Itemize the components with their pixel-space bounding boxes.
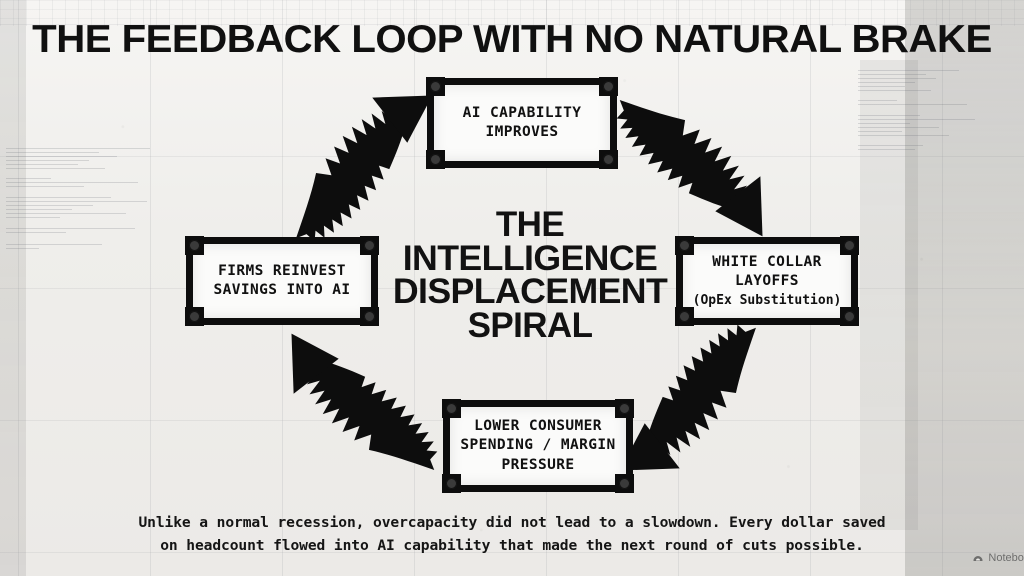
watermark: Noteboo: [972, 552, 1024, 564]
center-label-line-2: INTELLIGENCE: [377, 242, 683, 276]
node-ai-capability-improves: AI CAPABILITY IMPROVES: [427, 78, 617, 168]
watermark-label: Noteboo: [988, 552, 1024, 564]
node-line-1: AI CAPABILITY: [463, 105, 582, 121]
bolt-icon: [185, 236, 204, 255]
node-label: FIRMS REINVEST SAVINGS INTO AI: [210, 260, 355, 302]
node-lower-consumer-spending: LOWER CONSUMER SPENDING / MARGIN PRESSUR…: [443, 400, 633, 492]
node-line-3: PRESSURE: [501, 457, 574, 473]
center-label-line-1: THE: [380, 208, 680, 242]
center-label: THE INTELLIGENCE DISPLACEMENT SPIRAL: [380, 208, 680, 342]
bolt-icon: [675, 307, 694, 326]
bolt-icon: [360, 307, 379, 326]
node-label: AI CAPABILITY IMPROVES: [459, 102, 586, 144]
bolt-icon: [840, 307, 859, 326]
bolt-icon: [599, 77, 618, 96]
bolt-icon: [185, 307, 204, 326]
node-line-1: FIRMS REINVEST: [218, 263, 346, 279]
bolt-icon: [615, 474, 634, 493]
bolt-icon: [426, 77, 445, 96]
bolt-icon: [442, 474, 461, 493]
node-sublabel: (OpEx Substitution): [693, 292, 842, 309]
node-firms-reinvest-savings: FIRMS REINVEST SAVINGS INTO AI: [186, 237, 378, 325]
bolt-icon: [615, 399, 634, 418]
bolt-icon: [675, 236, 694, 255]
slide-title: THE FEEDBACK LOOP WITH NO NATURAL BRAKE: [0, 18, 1024, 62]
node-line-1: WHITE COLLAR: [712, 254, 822, 270]
node-label: LOWER CONSUMER SPENDING / MARGIN PRESSUR…: [456, 415, 619, 476]
node-line-2: LAYOFFS: [735, 273, 799, 289]
node-line-2: SAVINGS INTO AI: [214, 282, 351, 298]
slide-canvas: THE FEEDBACK LOOP WITH NO NATURAL BRAKE: [0, 0, 1024, 576]
node-label: WHITE COLLAR LAYOFFS (OpEx Substitution): [689, 251, 846, 310]
caption: Unlike a normal recession, overcapacity …: [62, 512, 962, 557]
center-label-line-3: DISPLACEMENT: [377, 275, 683, 309]
bolt-icon: [360, 236, 379, 255]
node-white-collar-layoffs: WHITE COLLAR LAYOFFS (OpEx Substitution): [676, 237, 858, 325]
center-label-line-4: SPIRAL: [380, 309, 680, 343]
bolt-icon: [442, 399, 461, 418]
node-line-2: IMPROVES: [485, 124, 558, 140]
bolt-icon: [840, 236, 859, 255]
caption-line-1: Unlike a normal recession, overcapacity …: [138, 514, 885, 531]
notebooklm-logo-icon: [972, 552, 984, 564]
bolt-icon: [426, 150, 445, 169]
node-line-1: LOWER CONSUMER: [474, 418, 602, 434]
caption-line-2: on headcount flowed into AI capability t…: [160, 537, 864, 554]
bolt-icon: [599, 150, 618, 169]
node-line-2: SPENDING / MARGIN: [460, 437, 615, 453]
background-ghost-document-left: [6, 148, 156, 252]
background-ghost-document-right: [858, 70, 988, 153]
